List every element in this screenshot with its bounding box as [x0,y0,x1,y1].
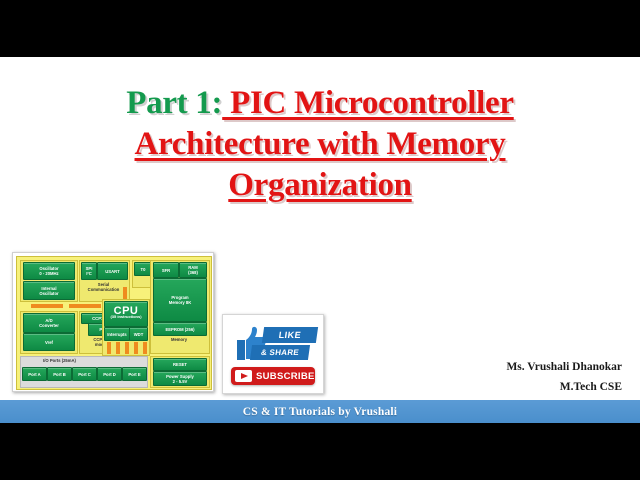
sfr-block: SFR [153,262,179,278]
channel-banner-label: CS & IT Tutorials by Vrushali [243,406,397,418]
io-ports-label: I/O Ports (25mA) [20,358,99,363]
port-e-block: Port E [122,367,147,381]
port-d-block: Port D [97,367,122,381]
wdt-block: WDT [129,327,148,341]
title-line-2: Architecture with Memory [0,124,640,165]
video-frame: Part 1: PIC Microcontroller Architecture… [0,0,640,480]
like-share-subscribe-graphic: LIKE & SHARE SUBSCRIBE [222,314,324,394]
program-memory-block: Program Memory 8K [153,278,207,322]
subscribe-button[interactable]: SUBSCRIBE [231,367,315,385]
vref-block: Vref [23,333,75,351]
eeprom-block: EEPROM (256) [153,322,207,336]
usart-block: USART [97,262,128,280]
port-b-block: Port B [47,367,72,381]
play-icon [235,370,252,382]
letterbox-top [0,0,640,57]
bus-arrow-mid [69,304,101,308]
pic-architecture-diagram: Oscillator 0 - 20MHz Internal Oscillator… [12,252,214,392]
subscribe-label: SUBSCRIBE [256,371,315,382]
title-line-1: Part 1: PIC Microcontroller [0,83,640,124]
port-a-block: Port A [22,367,47,381]
bus-arrow-port-4 [134,342,138,354]
title-part-main: PIC Microcontroller [222,85,514,121]
diagram-board: Oscillator 0 - 20MHz Internal Oscillator… [16,256,212,390]
reset-block: RESET [153,358,207,371]
port-c-block: Port C [72,367,97,381]
bus-arrow-port-2 [116,342,120,354]
power-supply-block: Power Supply 2 - 5.5V [153,371,207,386]
serial-communication-label: Serial Communication [79,282,128,292]
ram-block: RAM (368) [179,262,207,278]
cpu-instructions-label: (35 instructions) [110,314,141,319]
title-part-prefix: Part 1: [126,85,222,121]
channel-banner: CS & IT Tutorials by Vrushali [0,400,640,423]
slide-canvas: Part 1: PIC Microcontroller Architecture… [0,57,640,400]
share-label: & SHARE [250,345,310,360]
like-label: LIKE [262,327,318,343]
presenter-name: Ms. Vrushali Dhanokar [322,357,622,377]
presenter-degree: M.Tech CSE [322,377,622,397]
bus-arrow-left [31,304,63,308]
bus-arrow-port-3 [125,342,129,354]
spi-i2c-block: SPI I²C [81,262,97,280]
interrupts-block: Interrupts [104,327,130,341]
oscillator-block: Oscillator 0 - 20MHz [23,262,75,280]
bus-arrow-timers [123,287,127,299]
page-title: Part 1: PIC Microcontroller Architecture… [0,83,640,206]
bus-arrow-port-1 [107,342,111,354]
cpu-block: CPU (35 instructions) [104,301,148,327]
internal-oscillator-block: Internal Oscillator [23,281,75,300]
title-line-3: Organization [0,165,640,206]
bus-arrow-port-5 [143,342,147,354]
memory-label: Memory [150,337,208,342]
letterbox-bottom [0,423,640,480]
adc-block: A/D Converter [23,313,75,333]
